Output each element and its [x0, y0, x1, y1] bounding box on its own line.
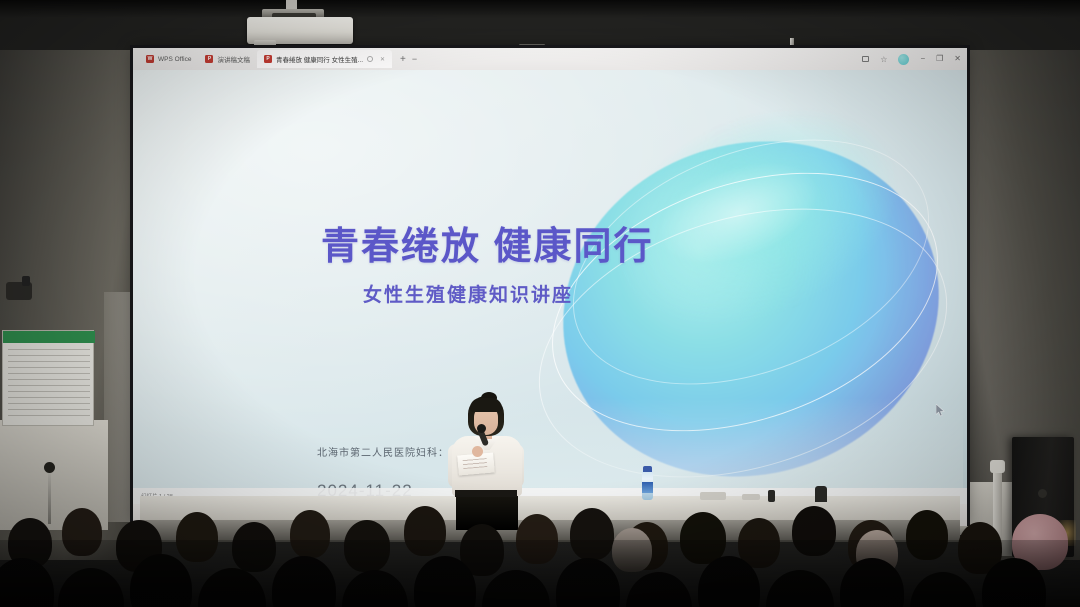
desk-microphone: [815, 486, 827, 502]
collapse-tabs-button[interactable]: −: [412, 54, 417, 64]
ceiling-shadow: [0, 0, 1080, 18]
minimize-button[interactable]: −: [920, 55, 925, 63]
tab-presentation[interactable]: P 青春绻放 健康同行 女性生殖... ✕: [257, 50, 392, 68]
poster-header-band: [3, 331, 95, 343]
maximize-button[interactable]: ❐: [936, 55, 943, 63]
projection-screen[interactable]: W WPS Office P 演讲稿文稿 P 青春绻放 健康同行 女性生殖...…: [133, 48, 967, 526]
wps-logo-icon: W: [146, 55, 154, 63]
microphone-head-icon: [44, 462, 55, 473]
tab-document-2[interactable]: P 演讲稿文稿: [198, 50, 257, 68]
tab-sync-icon: [367, 56, 373, 62]
desk-object-small: [742, 494, 760, 500]
desk-object-paper: [700, 492, 726, 500]
water-bottle-cap: [643, 466, 652, 472]
close-icon[interactable]: ✕: [380, 56, 385, 63]
lecture-hall-scene: W WPS Office P 演讲稿文稿 P 青春绻放 健康同行 女性生殖...…: [0, 0, 1080, 607]
abstract-gradient-orb: [503, 98, 963, 518]
poster-text-lines: [8, 349, 90, 419]
slide-canvas[interactable]: 青春绻放 健康同行 女性生殖健康知识讲座 北海市第二人民医院妇科： 赖国丽 20…: [133, 70, 967, 504]
tab-wps-office[interactable]: W WPS Office: [139, 50, 198, 68]
wall-poster: [2, 330, 94, 426]
audience-shadow-gradient: [0, 540, 1080, 607]
microphone-capsule: [477, 424, 486, 433]
slide-title: 青春绻放 健康同行: [321, 215, 654, 270]
star-icon[interactable]: ☆: [880, 55, 887, 64]
slide-subtitle: 女性生殖健康知识讲座: [363, 280, 573, 307]
app-tab-bar[interactable]: W WPS Office P 演讲稿文稿 P 青春绻放 健康同行 女性生殖...…: [133, 48, 967, 70]
wall-sensor-icon: [6, 282, 32, 300]
wall-pipe-cap: [990, 460, 1005, 473]
desk-object-dark: [768, 490, 775, 502]
script-text-lines: [463, 458, 488, 469]
new-tab-button[interactable]: +: [400, 54, 406, 65]
presenter-hand: [472, 446, 483, 457]
presenter-waistband: [455, 490, 517, 497]
pdf-doc-icon: P: [205, 55, 213, 63]
restore-window-icon[interactable]: [862, 56, 869, 62]
presenter-fringe: [470, 398, 502, 412]
water-bottle-label: [642, 482, 653, 493]
tab-label: 青春绻放 健康同行 女性生殖...: [276, 54, 363, 64]
tab-label: WPS Office: [158, 56, 191, 63]
avatar[interactable]: [898, 54, 909, 65]
tab-label: 演讲稿文稿: [217, 54, 250, 64]
close-button[interactable]: ✕: [954, 55, 961, 63]
ppt-doc-icon: P: [264, 55, 272, 63]
window-controls[interactable]: ☆ − ❐ ✕: [862, 48, 961, 70]
